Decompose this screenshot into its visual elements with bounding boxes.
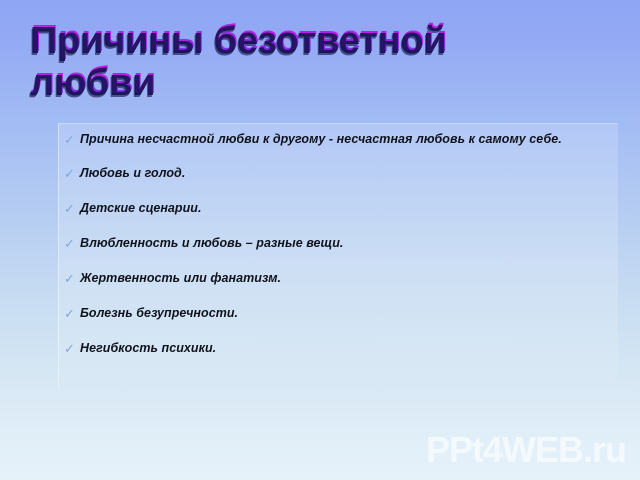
list-item: ✓ Причина несчастной любви к другому - н… xyxy=(64,131,609,165)
check-icon: ✓ xyxy=(64,201,80,217)
check-icon: ✓ xyxy=(64,306,80,322)
watermark: PPt4WEB.ru xyxy=(426,430,626,470)
title-line-1: Причины безответной xyxy=(31,18,451,60)
list-item-label: Любовь и голод. xyxy=(80,165,609,181)
list-item: ✓ Влюбленность и любовь – разные вещи. xyxy=(64,235,609,270)
list-item: ✓ Жертвенность или фанатизм. xyxy=(64,270,609,305)
slide-canvas: Причины безответной любви ✓ Причина несч… xyxy=(0,0,640,480)
check-icon: ✓ xyxy=(64,132,80,148)
page-title: Причины безответной любви xyxy=(31,18,451,102)
list-item-label: Детские сценарии. xyxy=(80,200,609,216)
title-line-2: любви xyxy=(31,60,451,102)
list-item-label: Болезнь безупречности. xyxy=(80,305,609,321)
list-item: ✓ Детские сценарии. xyxy=(64,200,609,235)
list-item: ✓ Любовь и голод. xyxy=(64,165,609,200)
list-item: ✓ Негибкость психики. xyxy=(64,340,609,375)
list-item-label: Жертвенность или фанатизм. xyxy=(80,270,609,286)
check-icon: ✓ xyxy=(64,166,80,182)
list-item-label: Влюбленность и любовь – разные вещи. xyxy=(80,235,609,251)
list-item-label: Причина несчастной любви к другому - нес… xyxy=(80,131,609,147)
check-icon: ✓ xyxy=(64,236,80,252)
check-icon: ✓ xyxy=(64,271,80,287)
check-icon: ✓ xyxy=(64,341,80,357)
list-item: ✓ Болезнь безупречности. xyxy=(64,305,609,340)
bullet-list: ✓ Причина несчастной любви к другому - н… xyxy=(64,131,609,375)
list-item-label: Негибкость психики. xyxy=(80,340,609,356)
